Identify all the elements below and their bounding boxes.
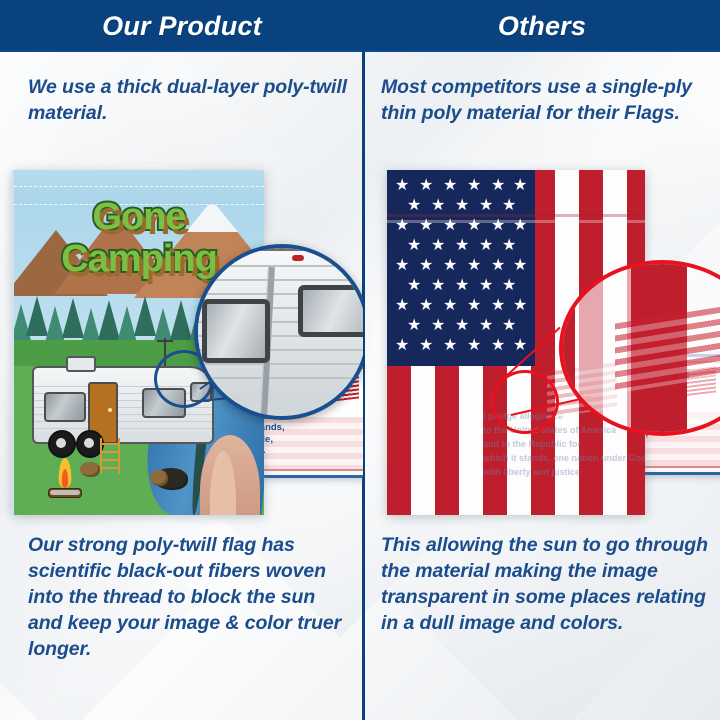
zoomed-camper-detail	[194, 244, 363, 420]
header-title-others: Others	[364, 11, 720, 42]
header-bar: Our Product Others	[0, 0, 720, 52]
panel-our-product: We use a thick dual-layer poly-twill mat…	[0, 52, 363, 720]
others-top-text: Most competitors use a single-ply thin p…	[381, 74, 711, 126]
rock	[80, 462, 100, 477]
campfire	[48, 458, 82, 498]
fire-logs	[48, 488, 82, 498]
magnifier-lens-others	[559, 260, 720, 436]
zoomed-camper-window	[298, 285, 363, 337]
zoomed-flag-detail	[559, 260, 720, 436]
others-bottom-text: This allowing the sun to go through the …	[381, 532, 711, 636]
flag-canton-stars: ★★ ★★ ★★ ★★ ★★ ★ ★★ ★★ ★★ ★★ ★★ ★ ★★ ★★ …	[387, 170, 535, 366]
flag-sleeve-hem	[387, 220, 645, 223]
magnifier-focus-circle-others	[491, 370, 559, 434]
camper-window	[44, 392, 86, 422]
camper-wheel	[48, 430, 76, 458]
zoomed-ghost-flag	[615, 304, 720, 393]
flame-inner	[62, 469, 68, 488]
flag-sleeve-hem	[387, 214, 645, 217]
magnifier-lens-our-product	[194, 244, 363, 420]
camper-ac-unit	[66, 356, 96, 372]
zoomed-camper-body	[194, 248, 363, 401]
camper-door-knob	[108, 408, 112, 412]
comparison-infographic: Our Product Others We use a thick dual-l…	[0, 0, 720, 720]
our-product-bottom-text: Our strong poly-twill flag has scientifi…	[28, 532, 348, 662]
zoomed-camper-marker	[222, 257, 234, 263]
our-product-image-stage: lance e to the flag es of America r whic…	[0, 164, 363, 534]
camper-ladder	[100, 438, 120, 474]
zoomed-camper-marker	[292, 255, 304, 261]
header-title-our-product: Our Product	[0, 11, 364, 42]
rock	[150, 470, 168, 486]
our-product-top-text: We use a thick dual-layer poly-twill mat…	[28, 74, 348, 126]
flag-title-line-1: Gone	[14, 196, 264, 238]
panel-others: Most competitors use a single-ply thin p…	[363, 52, 720, 720]
zoomed-camper-window	[202, 299, 270, 363]
others-image-stage: nce to the flag s of America which it st…	[363, 164, 720, 534]
